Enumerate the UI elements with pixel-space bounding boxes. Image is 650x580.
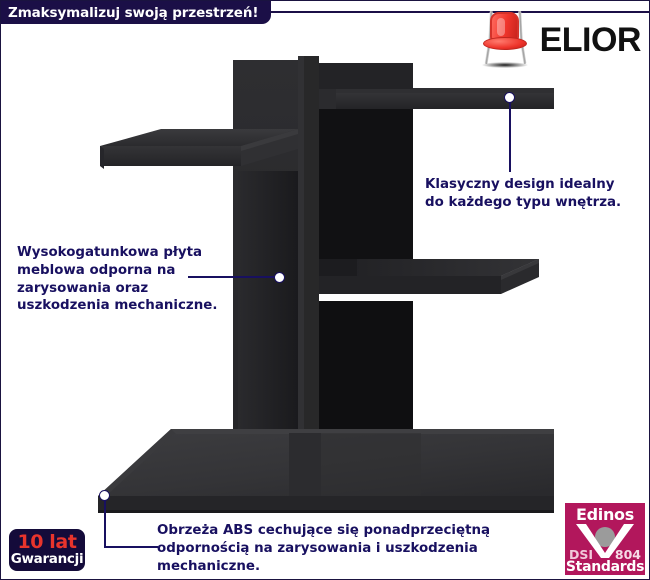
- callout-left-label: Wysokogatunkowa płyta meblowa odporna na…: [17, 244, 217, 315]
- shelf-base: [98, 429, 554, 513]
- shelf-top-right: [298, 88, 554, 109]
- edinos-name: Edinos: [565, 505, 645, 524]
- callout-left-dot: [274, 272, 285, 283]
- callout-bottom-leader-v: [104, 500, 106, 547]
- callout-right-leader: [509, 102, 511, 172]
- brand-logo[interactable]: ELIOR: [474, 9, 641, 71]
- callout-bottom-dot: [99, 490, 110, 501]
- base-shadow: [98, 510, 554, 513]
- red-chair-icon: [474, 9, 536, 71]
- warranty-label: Gwarancji: [11, 553, 84, 567]
- callout-right-label: Klasyczny design idealny do każdego typu…: [425, 176, 621, 212]
- edinos-standards-label: Standards: [565, 559, 645, 575]
- left-compartment-wall: [238, 171, 298, 451]
- product-infographic: Zmaksymalizuj swoją przestrzeń! ELIOR Kl…: [0, 0, 650, 580]
- shelf-middle-right: [319, 259, 539, 294]
- warranty-badge: 10 lat Gwarancji: [9, 529, 85, 571]
- page-title: Zmaksymalizuj swoją przestrzeń!: [1, 5, 258, 21]
- brand-name: ELIOR: [540, 23, 641, 57]
- callout-bottom-leader-h: [104, 546, 158, 548]
- center-divider-panel: [298, 56, 319, 493]
- callout-right-dot: [504, 92, 515, 103]
- header-banner: Zmaksymalizuj swoją przestrzeń!: [1, 1, 271, 24]
- warranty-years: 10 lat: [17, 533, 76, 552]
- callout-bottom-label: Obrzeża ABS cechujące się ponadprzeciętn…: [157, 522, 490, 575]
- edinos-standards-badge: Edinos DSI 804 Standards: [565, 503, 645, 575]
